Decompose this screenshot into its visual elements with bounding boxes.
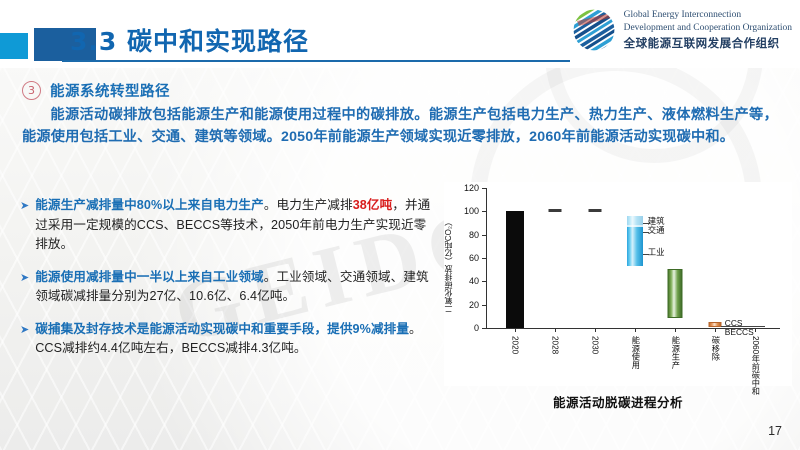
chart-x-tick-label: 2060年前碳中和 [749,336,761,395]
chart-bar-segment-divider [627,225,643,227]
logo-text-en-line1: Global Energy Interconnection [624,9,792,22]
bullet-arrow-icon: ➤ [20,268,29,307]
chart-y-tick-label: 20 [469,300,479,310]
chart-x-tick-label: 能源使用 [629,336,641,369]
logo-text-en-line2: Development and Cooperation Organization [624,22,792,35]
bullet-lead: 碳捕集及封存技术是能源活动实现碳中和重要手段，提供9%减排量 [35,322,409,336]
chart-x-tick-label: 2030 [590,336,599,354]
title-underline [62,60,570,62]
chart-bar [627,216,643,266]
chart-bar [506,211,524,328]
bullet-highlight: 38亿吨 [353,198,393,212]
chart-y-tick-label: 40 [469,276,479,286]
chart-y-tick-label: 60 [469,253,479,263]
slide: GEIDCO 3.3 碳中和实现路径 [0,0,800,450]
chart-y-tick [482,211,487,212]
chart-x-tick-label: 碳移除 [709,336,721,361]
chart-y-tick [482,188,487,189]
bullet-text: 能源使用减排量中一半以上来自工业领域。工业领域、交通领域、建筑领域碳减排量分别为… [35,268,438,307]
list-item: ➤ 碳捕集及封存技术是能源活动实现碳中和重要手段，提供9%减排量。CCS减排约4… [20,320,438,359]
chart-leader-line [643,254,649,255]
slide-header: 3.3 碳中和实现路径 [0,0,800,68]
bullet-arrow-icon: ➤ [20,320,29,359]
chart-marker [548,209,561,212]
organization-logo: Global Energy Interconnection Developmen… [571,7,792,53]
chart-segment-label: 工业 [648,246,665,258]
chart-segment-label: 交通 [648,224,665,236]
chart-y-tick [482,305,487,306]
section-number-badge: 3 [22,81,41,100]
bullet-text: 能源生产减排量中80%以上来自电力生产。电力生产减排38亿吨，并通过采用一定规模… [35,196,438,255]
chart-bar [667,269,682,318]
chart-x-tick [755,328,756,332]
chart-bar [708,322,721,327]
list-item: ➤ 能源使用减排量中一半以上来自工业领域。工业领域、交通领域、建筑领域碳减排量分… [20,268,438,307]
chart-y-tick-label: 80 [469,230,479,240]
chart-marker [588,209,601,212]
page-number: 17 [768,424,782,438]
chart-x-tick [635,328,636,332]
globe-stripes-logo-icon [571,7,617,53]
chart-x-tick-label: 2020 [510,336,519,354]
bullet-list: ➤ 能源生产减排量中80%以上来自电力生产。电力生产减排38亿吨，并通过采用一定… [20,196,438,372]
chart-baseline-connector [721,326,765,327]
chart: 二氧化碳排放（亿吨CO₂） 02040608010012020202028203… [444,182,792,386]
bullet-lead: 能源生产减排量中80%以上来自电力生产 [35,198,264,212]
chart-x-tick [675,328,676,332]
chart-y-axis-label: 二氧化碳排放（亿吨CO₂） [443,218,457,313]
chart-y-tick-label: 0 [474,323,479,333]
chart-x-tick [555,328,556,332]
chart-x-tick [515,328,516,332]
logo-text-cn: 全球能源互联网发展合作组织 [624,35,792,51]
chart-y-tick [482,281,487,282]
chart-bar-segment-top [627,216,643,225]
page-title: 3.3 碳中和实现路径 [70,22,309,58]
bullet-rest-a: 。电力生产减排 [264,198,353,212]
header-accent-block-cyan [0,33,28,59]
chart-x-tick-label: 能源生产 [669,336,681,369]
chart-y-tick-label: 100 [464,206,479,216]
chart-y-tick [482,258,487,259]
chart-plot-area: 020406080100120202020282030能源使用能源生产碳移除20… [486,188,780,328]
intro-paragraph: 能源活动碳排放包括能源生产和能源使用过程中的碳排放。能源生产包括电力生产、热力生… [22,104,778,149]
chart-x-tick [595,328,596,332]
chart-x-tick [715,328,716,332]
chart-y-tick [482,235,487,236]
chart-annotation: BECCS [725,327,754,337]
list-item: ➤ 能源生产减排量中80%以上来自电力生产。电力生产减排38亿吨，并通过采用一定… [20,196,438,255]
chart-x-tick-label: 2028 [550,336,559,354]
bullet-text: 碳捕集及封存技术是能源活动实现碳中和重要手段，提供9%减排量。CCS减排约4.4… [35,320,438,359]
bullet-arrow-icon: ➤ [20,196,29,255]
chart-leader-line [643,232,649,233]
section-heading: 3 能源系统转型路径 [22,80,170,101]
section-title: 能源系统转型路径 [50,80,170,101]
bullet-lead: 能源使用减排量中一半以上来自工业领域 [35,270,264,284]
chart-y-tick-label: 120 [464,183,479,193]
chart-y-tick [482,328,487,329]
chart-caption: 能源活动脱碳进程分析 [444,392,792,411]
